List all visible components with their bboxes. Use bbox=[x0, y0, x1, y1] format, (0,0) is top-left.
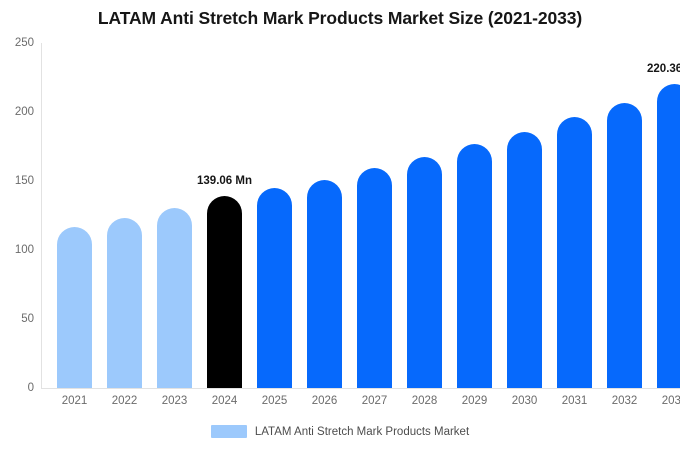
y-axis-tick-label: 50 bbox=[0, 313, 34, 325]
x-axis-line bbox=[41, 388, 680, 389]
y-axis-tick-label: 150 bbox=[0, 175, 34, 187]
bar[interactable] bbox=[57, 227, 92, 388]
x-axis-tick-label: 2032 bbox=[612, 395, 638, 407]
y-axis-tick-label: 200 bbox=[0, 106, 34, 118]
bar[interactable] bbox=[457, 144, 492, 388]
bar[interactable] bbox=[257, 188, 292, 388]
x-axis-tick-label: 2023 bbox=[162, 395, 188, 407]
y-axis-tick-label: 0 bbox=[0, 382, 34, 394]
x-axis-tick-label: 2033 bbox=[662, 395, 680, 407]
legend-color-swatch bbox=[211, 425, 247, 438]
bar[interactable] bbox=[557, 117, 592, 388]
bar[interactable] bbox=[107, 218, 142, 388]
x-axis-tick-label: 2028 bbox=[412, 395, 438, 407]
x-axis-tick-label: 2021 bbox=[62, 395, 88, 407]
bar[interactable] bbox=[207, 196, 242, 388]
x-axis-tick-label: 2030 bbox=[512, 395, 538, 407]
bar[interactable] bbox=[657, 84, 680, 388]
legend-item[interactable]: LATAM Anti Stretch Mark Products Market bbox=[211, 425, 469, 438]
x-axis-tick-label: 2026 bbox=[312, 395, 338, 407]
y-axis-tick-label: 100 bbox=[0, 244, 34, 256]
bar[interactable] bbox=[407, 157, 442, 388]
bars-layer bbox=[41, 43, 680, 388]
legend-item-label: LATAM Anti Stretch Mark Products Market bbox=[255, 426, 469, 438]
plot-area: 050100150200250 139.06 Mn220.36 Mn 20212… bbox=[41, 43, 680, 388]
x-axis-tick-label: 2022 bbox=[112, 395, 138, 407]
x-axis-tick-label: 2031 bbox=[562, 395, 588, 407]
bar-value-label: 139.06 Mn bbox=[197, 175, 252, 187]
chart-title: LATAM Anti Stretch Mark Products Market … bbox=[0, 8, 680, 29]
x-axis-tick-label: 2025 bbox=[262, 395, 288, 407]
bar[interactable] bbox=[307, 180, 342, 388]
bar[interactable] bbox=[357, 168, 392, 388]
bar[interactable] bbox=[157, 208, 192, 388]
bar[interactable] bbox=[507, 132, 542, 388]
x-axis-tick-label: 2027 bbox=[362, 395, 388, 407]
x-axis-tick-label: 2029 bbox=[462, 395, 488, 407]
bar[interactable] bbox=[607, 103, 642, 388]
bar-value-label: 220.36 Mn bbox=[647, 63, 680, 75]
chart-legend: LATAM Anti Stretch Mark Products Market bbox=[0, 425, 680, 438]
bar-chart: LATAM Anti Stretch Mark Products Market … bbox=[0, 0, 680, 450]
y-axis-tick-label: 250 bbox=[0, 37, 34, 49]
x-axis-tick-label: 2024 bbox=[212, 395, 238, 407]
